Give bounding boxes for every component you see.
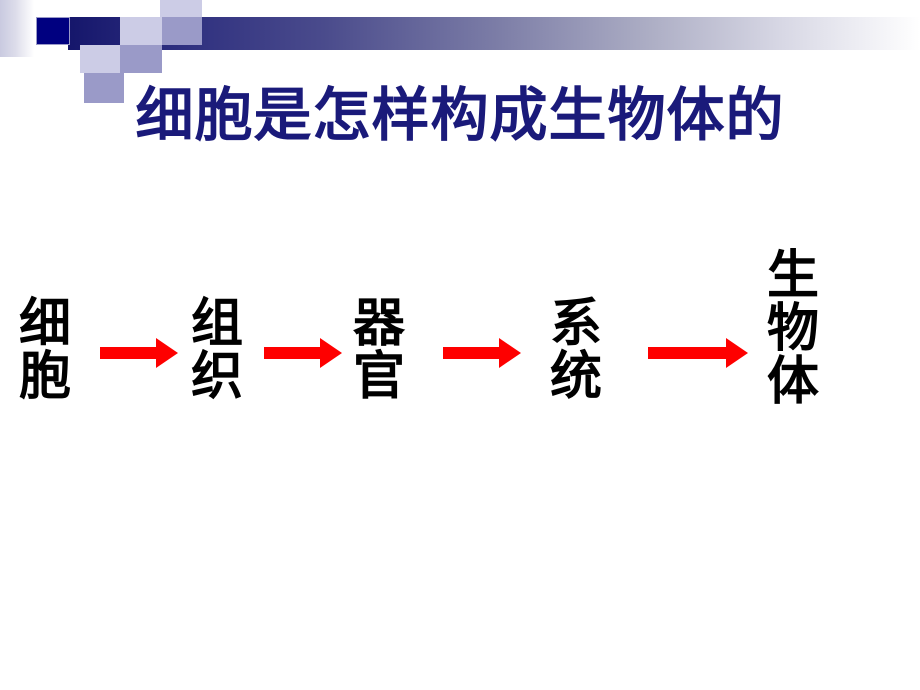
decor-square-lavender-b (80, 45, 120, 73)
arrow-shaft (648, 347, 728, 359)
slide-canvas: 细胞是怎样构成生物体的 细 胞 组 织 器 官 系 统 (0, 0, 920, 690)
hierarchy-flow-diagram: 细 胞 组 织 器 官 系 统 (0, 250, 920, 450)
flow-node-system-char-0: 系 (545, 298, 607, 351)
flow-node-organism: 生 物 体 (762, 250, 824, 409)
arrow-shaft (443, 347, 501, 359)
decor-square-lavender-top (160, 0, 202, 17)
flow-node-organism-char-1: 物 (762, 303, 824, 356)
decor-square-medium-a (162, 17, 202, 45)
arrow-shaft (264, 347, 322, 359)
flow-node-organism-char-0: 生 (762, 250, 824, 303)
flow-node-organism-char-2: 体 (762, 356, 824, 409)
flow-node-organ-char-1: 官 (348, 351, 410, 404)
flow-node-tissue-char-0: 组 (186, 298, 248, 351)
arrow-shaft (100, 347, 158, 359)
flow-node-organ-char-0: 器 (348, 298, 410, 351)
arrow-organ-system (443, 338, 521, 368)
flow-node-tissue: 组 织 (186, 298, 248, 404)
flow-node-system-char-1: 统 (545, 351, 607, 404)
decor-square-navy (36, 17, 70, 45)
arrow-head (156, 338, 178, 368)
arrow-tissue-organ (264, 338, 342, 368)
decor-gradient-strip (0, 0, 34, 57)
flow-node-tissue-char-1: 织 (186, 351, 248, 404)
arrow-head (320, 338, 342, 368)
flow-node-system: 系 统 (545, 298, 607, 404)
flow-node-organ: 器 官 (348, 298, 410, 404)
arrow-head (726, 338, 748, 368)
decor-square-lavender-a (120, 17, 162, 45)
flow-node-cell-char-0: 细 (14, 298, 76, 351)
flow-node-cell: 细 胞 (14, 298, 76, 404)
slide-title: 细胞是怎样构成生物体的 (0, 86, 920, 144)
flow-node-cell-char-1: 胞 (14, 351, 76, 404)
decor-square-medium-b (120, 45, 162, 73)
arrow-cell-tissue (100, 338, 178, 368)
arrow-head (499, 338, 521, 368)
arrow-system-organism (648, 338, 748, 368)
